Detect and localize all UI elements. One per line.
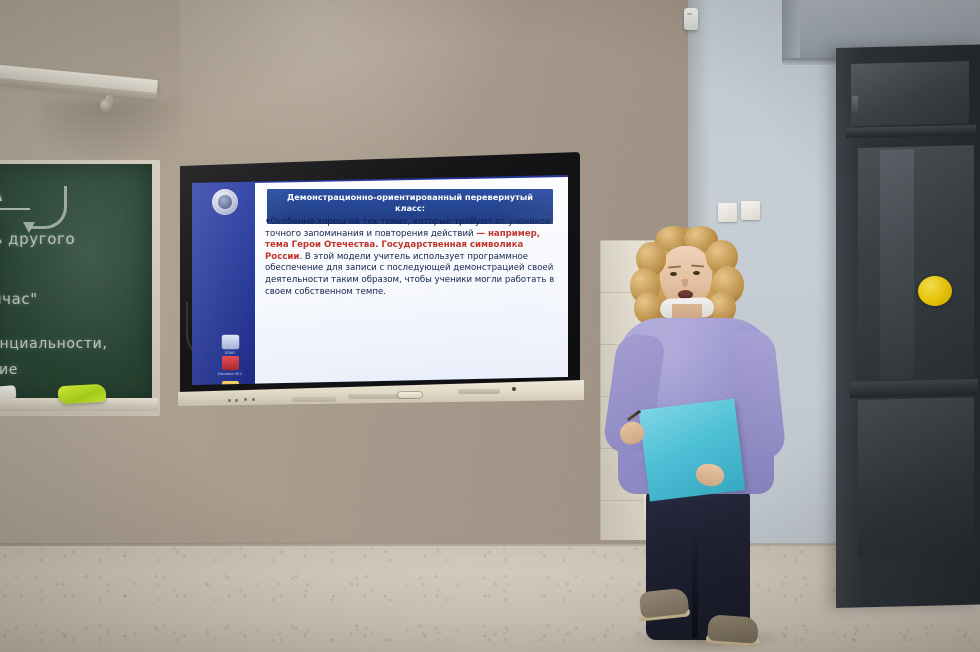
light-switch-left[interactable] — [718, 203, 737, 222]
desktop-icon-label: EDMO — [210, 351, 250, 355]
chalk-underline-mark — [0, 208, 30, 210]
floor-baseboard-line — [0, 543, 980, 546]
door-mid-rail — [850, 379, 978, 398]
motion-sensor — [684, 8, 698, 30]
door-glass-upper — [858, 145, 974, 384]
interactive-flat-panel[interactable]: EDMO Education 95 2 Education 201-250 3 … — [180, 152, 580, 420]
sensor-led-icon — [687, 13, 692, 15]
panel-power-button[interactable] — [398, 392, 422, 398]
panel-control-button-1[interactable] — [228, 399, 231, 402]
yellow-dot-sticker — [918, 276, 952, 306]
panel-control-button-2[interactable] — [235, 399, 238, 402]
shoe-left — [639, 588, 689, 619]
chalk-line-4: ейчас" — [0, 290, 38, 308]
desktop-icon-label: Education 95 2 — [210, 372, 250, 376]
panel-control-button-3[interactable] — [244, 398, 247, 401]
lamp-pivot-joint — [100, 99, 113, 112]
slide-body: •Особенно хорош на тех темах, которые тр… — [265, 217, 555, 298]
coat-of-arms-emblem — [212, 189, 238, 215]
blue-folder — [639, 398, 745, 501]
panel-speaker-grille-left — [292, 397, 336, 402]
chalk-line-5: денциальности, — [0, 336, 107, 352]
trouser-leg-seam — [692, 526, 698, 638]
chalk-line-1: А — [0, 182, 3, 206]
chalkboard: А ть другого м ейчас" денциальности, сти… — [0, 164, 152, 400]
panel-speaker-grille-right — [458, 389, 500, 394]
cleaning-cloth — [58, 384, 107, 404]
door-glass-reflection — [880, 149, 914, 380]
presenter-speaking — [596, 226, 786, 646]
door-hinge — [852, 96, 858, 114]
eye-left — [670, 272, 677, 276]
soffit-return — [782, 0, 800, 64]
lamp-wall-shadow — [40, 100, 190, 164]
classroom-photo-scene: А ть другого м ейчас" денциальности, сти… — [0, 0, 980, 652]
floor-speckle-texture — [0, 544, 980, 652]
panel-ir-receiver — [512, 387, 516, 391]
door-glass-lower — [858, 397, 974, 558]
door-transom-glass — [851, 61, 969, 126]
eye-right — [693, 271, 700, 275]
nose — [682, 279, 688, 287]
chalk-eraser — [0, 385, 17, 401]
education-folder-icon — [222, 356, 239, 370]
slide-text-part-3: . В этой модели учитель использует прогр… — [265, 252, 554, 297]
desktop-icon-edmarket[interactable]: EDMO — [210, 335, 250, 355]
panel-control-button-4[interactable] — [252, 398, 255, 401]
panel-screen[interactable]: EDMO Education 95 2 Education 201-250 3 … — [192, 175, 568, 385]
presentation-slide[interactable]: Демонстрационно-ориентированный переверн… — [255, 177, 568, 385]
shoe-right — [707, 614, 759, 643]
chalk-line-6: стие — [0, 362, 18, 378]
edmarket-icon — [222, 335, 239, 349]
light-switch-right[interactable] — [741, 201, 760, 220]
chalk-line-2: ть другого — [0, 230, 75, 248]
desktop-icon-education-95[interactable]: Education 95 2 — [210, 356, 250, 376]
